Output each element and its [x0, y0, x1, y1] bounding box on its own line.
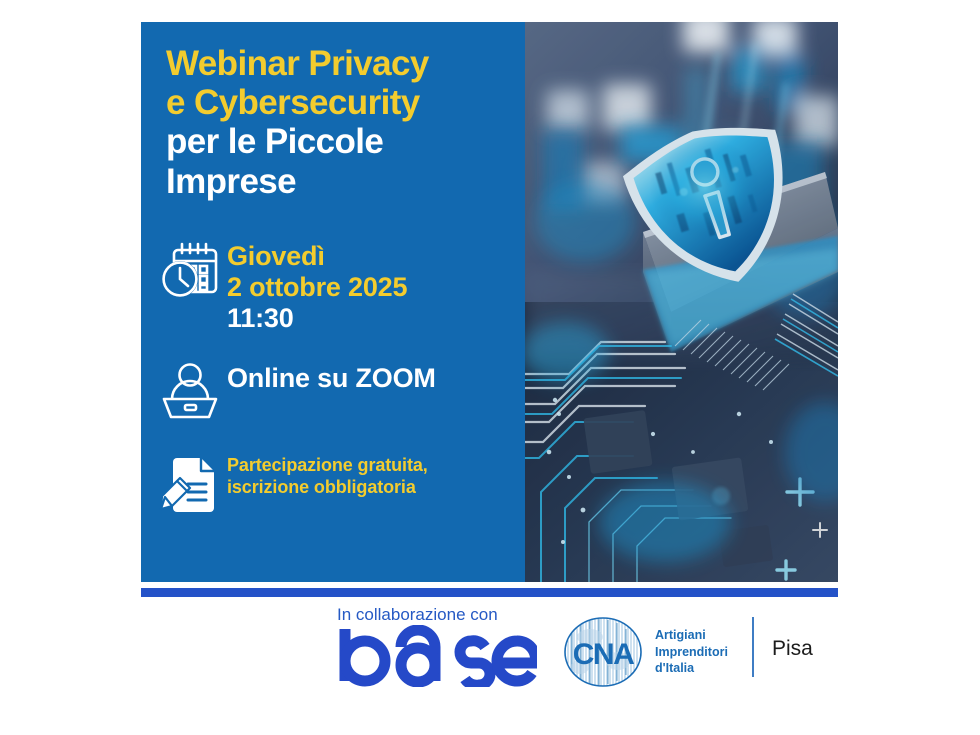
- event-date: 2 ottobre 2025: [227, 272, 407, 303]
- document-pencil-icon: [159, 454, 227, 516]
- circuit-board-security-shield-photo: [525, 22, 838, 582]
- page-title: Webinar Privacy e Cybersecurity per le P…: [166, 44, 516, 201]
- webinar-poster: Webinar Privacy e Cybersecurity per le P…: [141, 22, 838, 596]
- cna-logo-block: CNA Artigiani Imprenditori d'Italia: [560, 615, 728, 689]
- cna-mark-text: CNA: [573, 638, 634, 671]
- collaboration-label: In collaborazione con: [337, 605, 498, 625]
- info-row-platform: Online su ZOOM: [159, 362, 436, 420]
- vertical-divider: [752, 617, 754, 677]
- headline-line-2: e Cybersecurity: [166, 83, 516, 122]
- date-text-block: Giovedì 2 ottobre 2025 11:30: [227, 240, 407, 333]
- event-day: Giovedì: [227, 241, 407, 272]
- cna-circle-mark: CNA: [560, 615, 646, 689]
- headline-line-3: per le Piccole: [166, 122, 516, 161]
- city-label: Pisa: [772, 637, 813, 661]
- info-row-registration: Partecipazione gratuita, iscrizione obbl…: [159, 454, 428, 516]
- registration-line-1: Partecipazione gratuita,: [227, 455, 428, 477]
- footer-partners: In collaborazione con: [141, 601, 838, 701]
- blue-content-panel: Webinar Privacy e Cybersecurity per le P…: [141, 22, 525, 582]
- platform-text: Online su ZOOM: [227, 363, 436, 394]
- info-row-date: Giovedì 2 ottobre 2025 11:30: [159, 240, 407, 333]
- event-time: 11:30: [227, 303, 407, 334]
- person-laptop-icon: [159, 362, 227, 420]
- base-logo: [337, 625, 537, 692]
- cna-tagline-line-3: d'Italia: [655, 660, 728, 677]
- registration-text-block: Partecipazione gratuita, iscrizione obbl…: [227, 454, 428, 498]
- cna-tagline-line-2: Imprenditori: [655, 644, 728, 661]
- cna-tagline: Artigiani Imprenditori d'Italia: [655, 627, 728, 678]
- blue-divider-bar: [141, 588, 838, 597]
- cna-tagline-line-1: Artigiani: [655, 627, 728, 644]
- registration-line-2: iscrizione obbligatoria: [227, 477, 428, 499]
- platform-text-block: Online su ZOOM: [227, 362, 436, 394]
- calendar-clock-icon: [159, 240, 227, 302]
- headline-line-1: Webinar Privacy: [166, 44, 516, 83]
- headline-line-4: Imprese: [166, 162, 516, 201]
